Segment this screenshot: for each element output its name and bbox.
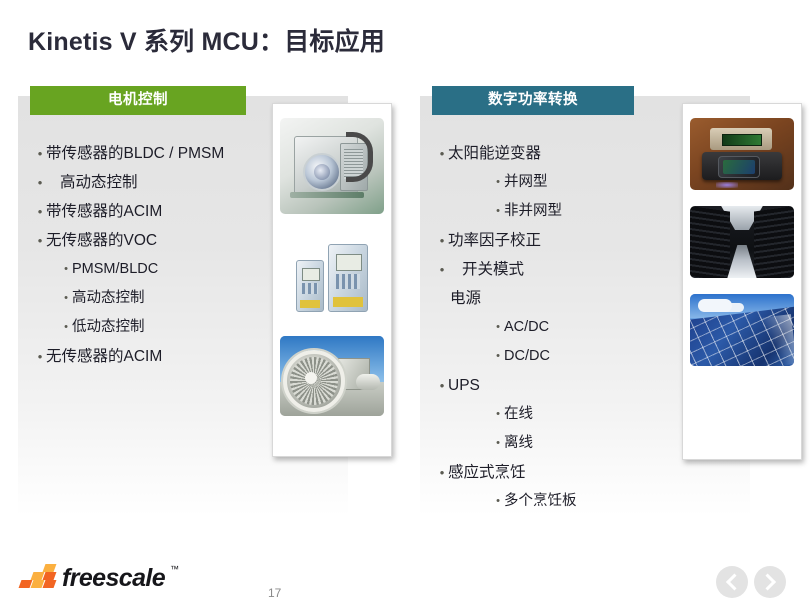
bullet-dot-icon: • — [436, 260, 448, 279]
charger-base-shape — [710, 128, 772, 150]
list-item: • 并网型 — [492, 173, 666, 192]
bullet-dot-icon: • — [60, 318, 72, 337]
smartphone-shape — [718, 156, 760, 178]
bullet-dot-icon: • — [34, 202, 46, 221]
list-item: • 高动态控制 — [60, 289, 264, 308]
bullet-dot-icon: • — [492, 202, 504, 221]
vfd-terminal-strip-shape — [300, 300, 321, 308]
motor-control-bullet-list: • 带传感器的BLDC / PMSM • 高动态控制 • 带传感器的ACIM •… — [34, 144, 264, 376]
bullet-dot-icon: • — [492, 492, 504, 511]
list-item-label: 太阳能逆变器 — [448, 144, 541, 163]
list-item: • 功率因子校正 — [436, 231, 666, 250]
cloud-shape — [698, 299, 732, 312]
list-item-continuation: 电源 — [450, 289, 666, 308]
list-item-label: 高动态控制 — [72, 289, 145, 308]
washer-base-shape — [290, 192, 364, 198]
bullet-dot-icon: • — [492, 434, 504, 453]
bullet-dot-icon: • — [492, 173, 504, 192]
list-item: • UPS — [436, 376, 666, 395]
list-item: • 太阳能逆变器 — [436, 144, 666, 163]
bullet-dot-icon: • — [492, 318, 504, 337]
logo-diamond-icon — [43, 564, 57, 572]
motor-control-image-card — [272, 103, 392, 457]
bullet-dot-icon: • — [34, 347, 46, 366]
charger-display-shape — [722, 134, 762, 146]
list-item-label: 并网型 — [504, 173, 548, 192]
vfd-large-unit-shape — [328, 244, 368, 312]
bullet-dot-icon: • — [436, 231, 448, 250]
vfd-terminal-strip-shape — [333, 297, 363, 308]
server-rack-row-right-shape — [754, 206, 794, 278]
bullet-dot-icon: • — [34, 231, 46, 250]
vfd-display-shape — [302, 268, 321, 281]
logo-wordmark: freescale — [62, 564, 165, 593]
list-item: • 开关模式 — [436, 260, 666, 279]
bullet-dot-icon: • — [492, 347, 504, 366]
section-header-motor-control: 电机控制 — [30, 86, 246, 115]
data-center-aisle-image — [690, 206, 794, 278]
vfd-display-shape — [336, 254, 362, 271]
hvac-duct-shape — [356, 374, 380, 390]
list-item: • 带传感器的BLDC / PMSM — [34, 144, 264, 163]
bullet-dot-icon: • — [60, 289, 72, 308]
bullet-dot-icon: • — [34, 173, 46, 192]
list-item: • DC/DC — [492, 347, 666, 366]
next-slide-button[interactable] — [754, 566, 786, 598]
list-item-label: 带传感器的ACIM — [46, 202, 162, 221]
bullet-dot-icon: • — [60, 260, 72, 279]
list-item-label: AC/DC — [504, 318, 549, 337]
bullet-dot-icon: • — [436, 144, 448, 163]
list-item: • 非并网型 — [492, 202, 666, 221]
section-header-digital-power-conversion: 数字功率转换 — [432, 86, 634, 115]
list-item-label: 非并网型 — [504, 202, 562, 221]
page-number: 17 — [268, 586, 281, 600]
list-item-label: 开关模式 — [448, 260, 524, 279]
freescale-logo: freescale ™ — [18, 562, 188, 596]
list-item-label: 功率因子校正 — [448, 231, 541, 250]
wireless-charging-pad-image — [690, 118, 794, 190]
vfd-keypad-shape — [336, 274, 360, 289]
list-item-label: DC/DC — [504, 347, 550, 366]
bullet-dot-icon: • — [492, 405, 504, 424]
logo-trademark-symbol: ™ — [170, 564, 179, 574]
bullet-dot-icon: • — [34, 144, 46, 163]
list-item-label: 无传感器的ACIM — [46, 347, 162, 366]
logo-diamond-icon — [43, 572, 57, 580]
previous-slide-button[interactable] — [716, 566, 748, 598]
list-item-label: UPS — [448, 376, 480, 395]
list-item-label: PMSM/BLDC — [72, 260, 158, 279]
washer-drum-shape — [303, 153, 341, 191]
digital-power-conversion-bullet-list: • 太阳能逆变器 • 并网型 • 非并网型 • 功率因子校正 • 开关模式 电源… — [436, 144, 666, 521]
chevron-right-icon — [759, 574, 776, 591]
list-item: • 带传感器的ACIM — [34, 202, 264, 221]
list-item: • PMSM/BLDC — [60, 260, 264, 279]
charger-glow-shape — [716, 182, 738, 188]
list-item-label: 多个烹饪板 — [504, 492, 577, 511]
bullet-dot-icon: • — [436, 463, 448, 482]
solar-panels-image — [690, 294, 794, 366]
list-item-label: 低动态控制 — [72, 318, 145, 337]
list-item: • AC/DC — [492, 318, 666, 337]
panel-glare-shape — [756, 314, 794, 366]
bullet-dot-icon: • — [436, 376, 448, 395]
vfd-keypad-shape — [302, 283, 319, 294]
list-item-label: 无传感器的VOC — [46, 231, 157, 250]
page-title: Kinetis V 系列 MCU：目标应用 — [28, 22, 385, 58]
list-item: • 离线 — [492, 434, 666, 453]
variable-frequency-drives-image — [280, 232, 384, 320]
list-item-label: 离线 — [504, 434, 533, 453]
list-item: • 高动态控制 — [34, 173, 264, 192]
vfd-small-unit-shape — [296, 260, 324, 312]
server-rack-row-left-shape — [690, 206, 730, 278]
list-item-label: 感应式烹饪 — [448, 463, 526, 482]
list-item-label: 带传感器的BLDC / PMSM — [46, 144, 224, 163]
logo-diamond-icon — [43, 580, 57, 588]
digital-power-image-card — [682, 103, 802, 460]
hvac-fan-shape — [283, 350, 345, 412]
hvac-fan-unit-image — [280, 336, 384, 416]
list-item-label: 在线 — [504, 405, 533, 424]
list-item: • 无传感器的ACIM — [34, 347, 264, 366]
chevron-left-icon — [726, 574, 743, 591]
washer-hose-shape — [346, 132, 373, 182]
list-item: • 感应式烹饪 — [436, 463, 666, 482]
list-item-label: 高动态控制 — [46, 173, 138, 192]
list-item: • 在线 — [492, 405, 666, 424]
list-item: • 多个烹饪板 — [492, 492, 666, 511]
washing-machine-drum-image — [280, 118, 384, 214]
list-item: • 无传感器的VOC — [34, 231, 264, 250]
list-item: • 低动态控制 — [60, 318, 264, 337]
